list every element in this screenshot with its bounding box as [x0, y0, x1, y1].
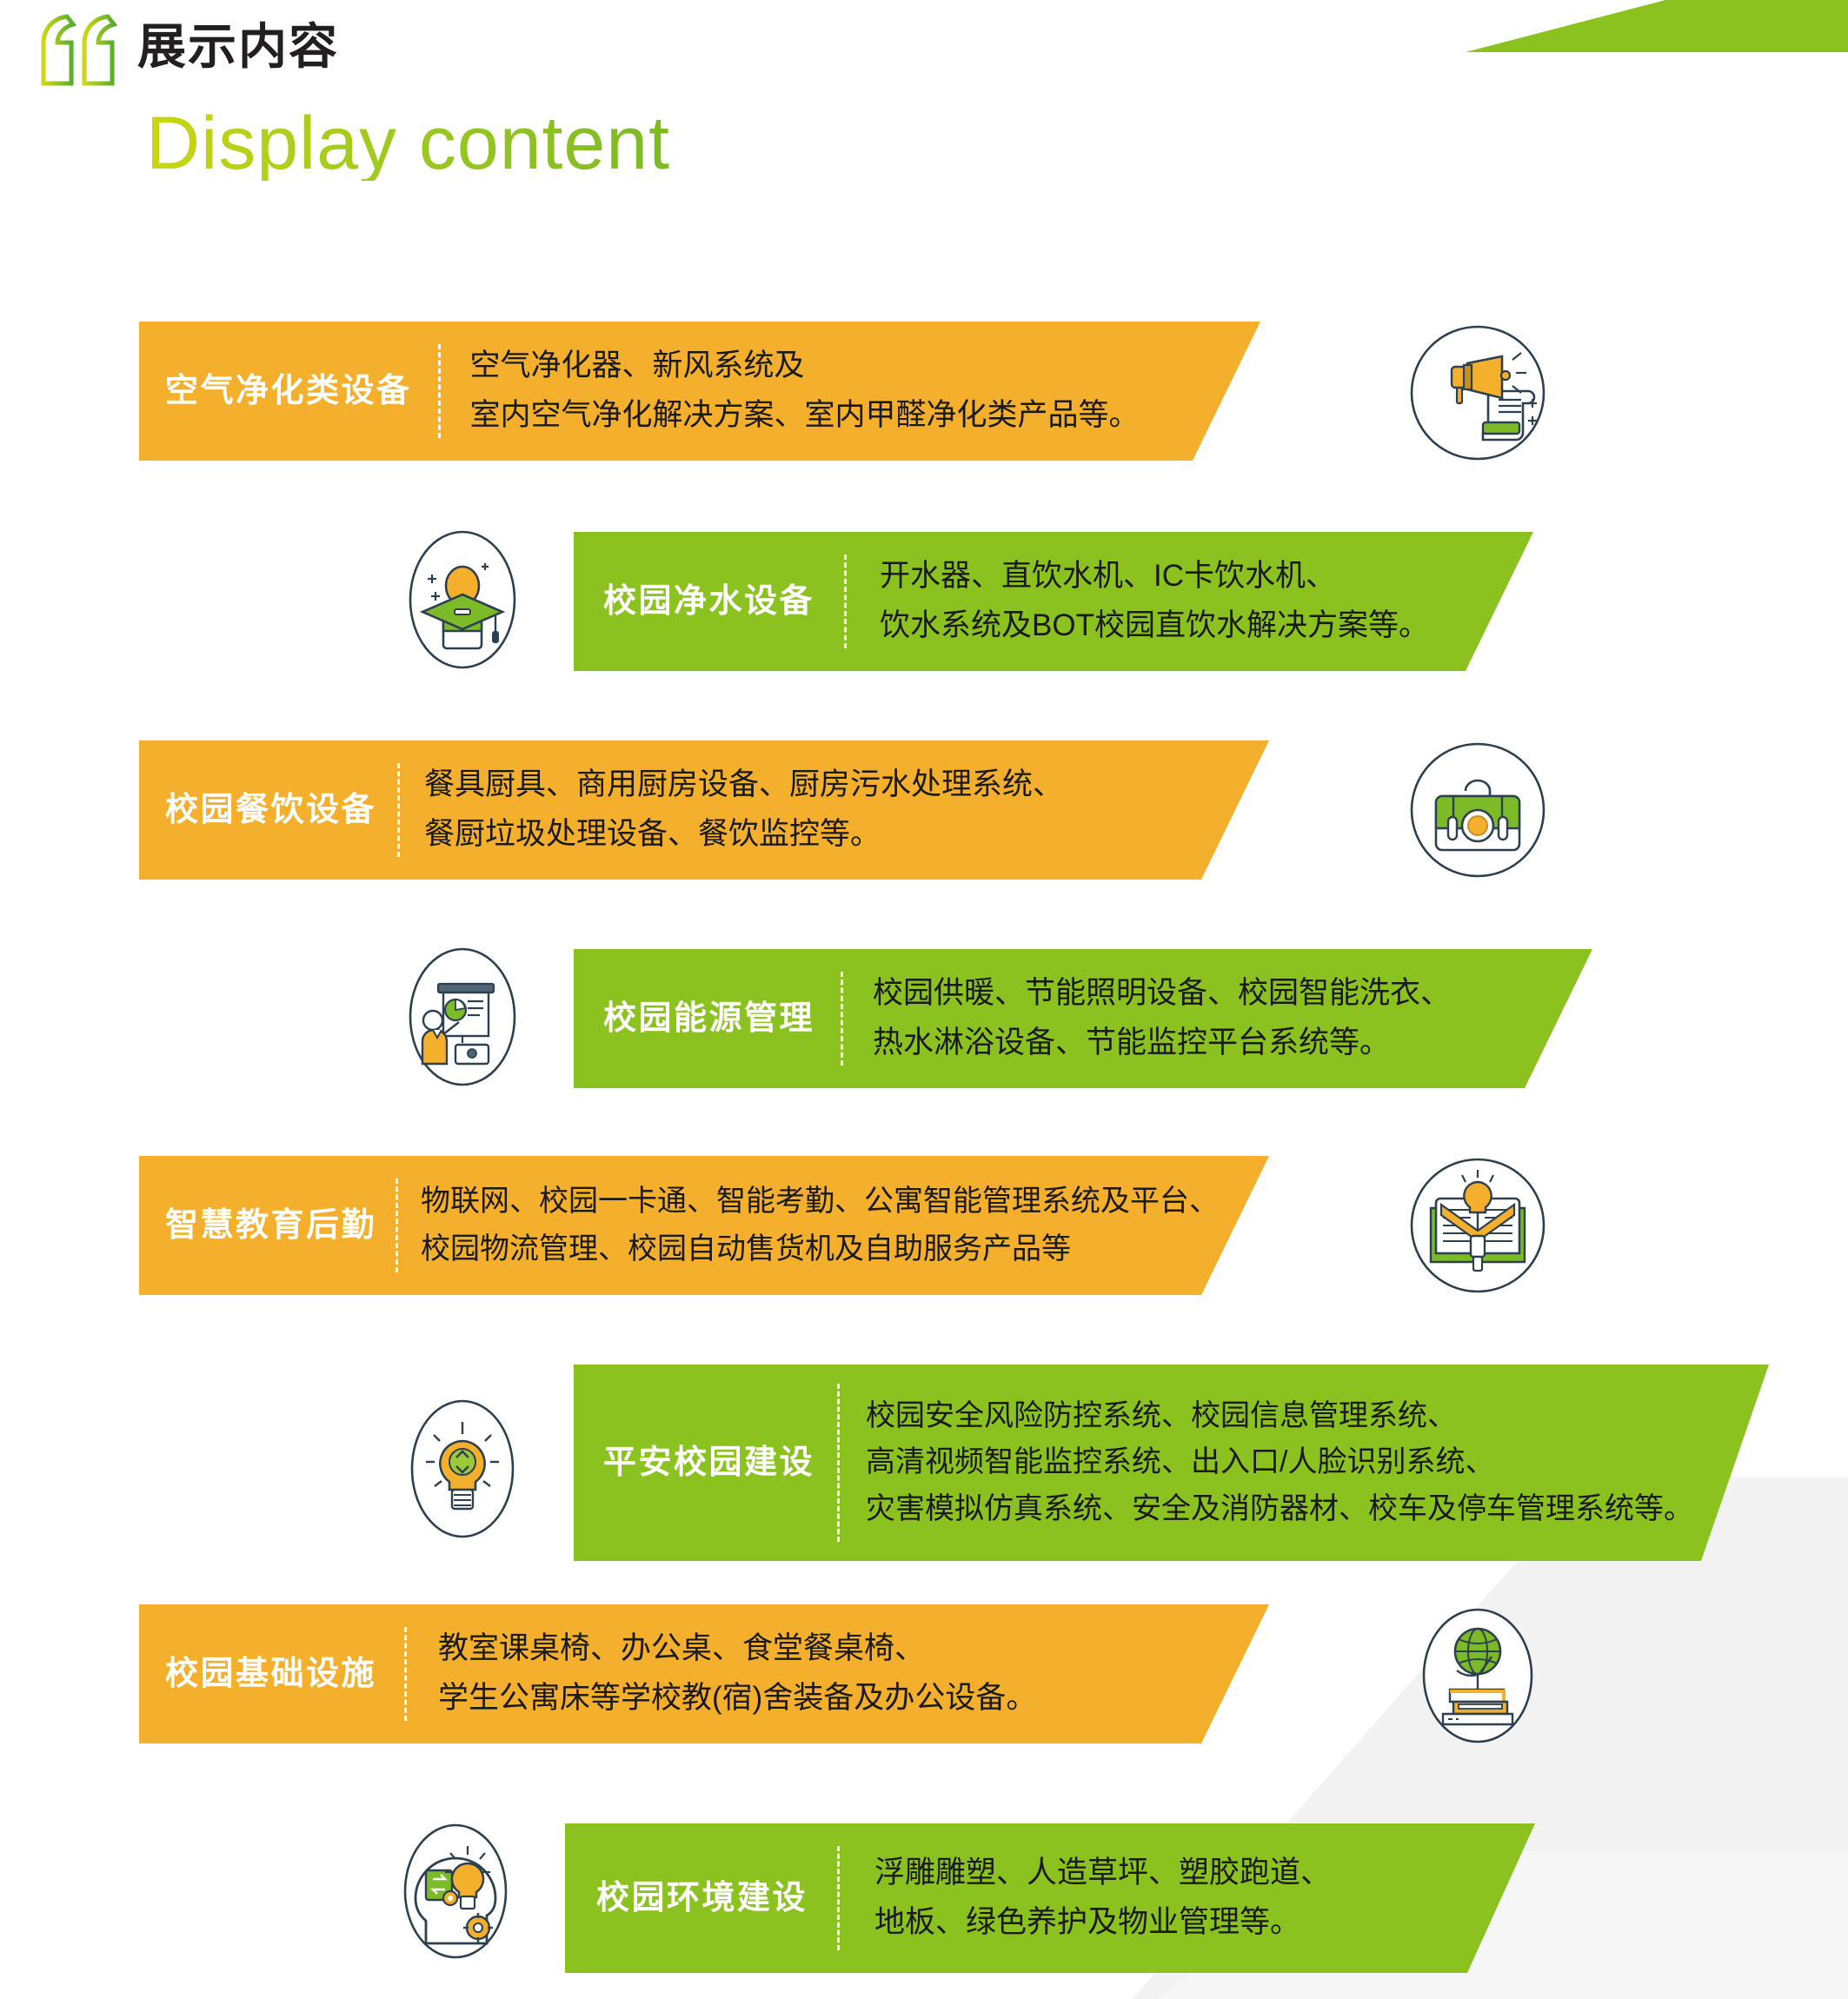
row-bar[interactable]: 校园净水设备 开水器、直饮水机、IC卡饮水机、 饮水系统及BOT校园直饮水解决方…: [574, 532, 1533, 671]
row-divider: [438, 344, 441, 438]
lightbulb-recycle-icon: [393, 1399, 532, 1538]
row-divider: [837, 1846, 840, 1950]
row-smart-logistics: 智慧教育后勤 物联网、校园一卡通、智能考勤、公寓智能管理系统及平台、 校园物流管…: [139, 1156, 1269, 1295]
row-desc-line: 校园供暖、节能照明设备、校园智能洗衣、: [873, 969, 1451, 1019]
row-environment-construction: 校园环境建设 浮雕雕塑、人造草坪、塑胶跑道、 地板、绿色养护及物业管理等。: [565, 1823, 1535, 1973]
megaphone-scroll-icon: [1408, 323, 1547, 462]
row-category-label: 平安校园建设: [603, 1446, 814, 1479]
row-divider: [841, 972, 843, 1066]
row-desc-line: 空气净化器、新风系统及: [470, 342, 1140, 391]
row-bar[interactable]: 校园餐饮设备 餐具厨具、商用厨房设备、厨房污水处理系统、 餐厨垃圾处理设备、餐饮…: [139, 740, 1269, 880]
page-title-en: Display content: [146, 106, 670, 181]
row-desc-line: 餐具厨具、商用厨房设备、厨房污水处理系统、: [424, 760, 1063, 810]
row-desc-line: 校园安全风险防控系统、校园信息管理系统、: [866, 1393, 1693, 1439]
row-energy-management: 校园能源管理 校园供暖、节能照明设备、校园智能洗衣、 热水淋浴设备、节能监控平台…: [574, 949, 1592, 1088]
row-bar[interactable]: 平安校园建设 校园安全风险防控系统、校园信息管理系统、 高清视频智能监控系统、出…: [574, 1365, 1769, 1561]
decorative-green-corner: [1466, 0, 1848, 52]
row-category-label: 校园净水设备: [603, 585, 814, 618]
row-basic-facilities: 校园基础设施 教室课桌椅、办公桌、食堂餐桌椅、 学生公寓床等学校教(宿)舍装备及…: [139, 1604, 1269, 1743]
row-safe-campus: 平安校园建设 校园安全风险防控系统、校园信息管理系统、 高清视频智能监控系统、出…: [574, 1365, 1769, 1561]
head-lightbulb-gear-icon: [386, 1822, 525, 1961]
row-bar[interactable]: 智慧教育后勤 物联网、校园一卡通、智能考勤、公寓智能管理系统及平台、 校园物流管…: [139, 1156, 1269, 1295]
row-desc-line: 热水淋浴设备、节能监控平台系统等。: [873, 1019, 1451, 1068]
row-category-label: 智慧教育后勤: [165, 1209, 376, 1242]
row-desc-line: 物联网、校园一卡通、智能考勤、公寓智能管理系统及平台、: [421, 1178, 1219, 1225]
row-divider: [844, 555, 847, 648]
row-category-label: 校园能源管理: [603, 1002, 814, 1035]
row-divider: [396, 1179, 398, 1272]
row-divider: [397, 763, 400, 857]
row-bar[interactable]: 校园能源管理 校园供暖、节能照明设备、校园智能洗衣、 热水淋浴设备、节能监控平台…: [574, 949, 1592, 1088]
row-desc-line: 校园物流管理、校园自动售货机及自助服务产品等: [421, 1225, 1219, 1273]
row-bar[interactable]: 校园基础设施 教室课桌椅、办公桌、食堂餐桌椅、 学生公寓床等学校教(宿)舍装备及…: [139, 1604, 1269, 1743]
graduation-cap-icon: [393, 530, 532, 669]
row-desc-line: 高清视频智能监控系统、出入口/人脸识别系统、: [866, 1439, 1693, 1485]
row-catering-equipment: 校园餐饮设备 餐具厨具、商用厨房设备、厨房污水处理系统、 餐厨垃圾处理设备、餐饮…: [139, 740, 1269, 880]
row-desc-line: 灾害模拟仿真系统、安全及消防器材、校车及停车管理系统等。: [866, 1486, 1693, 1532]
book-lightbulb-icon: [1408, 1156, 1547, 1295]
row-bar[interactable]: 空气净化类设备 空气净化器、新风系统及 室内空气净化解决方案、室内甲醛净化类产品…: [139, 322, 1260, 461]
row-category-label: 校园环境建设: [596, 1882, 808, 1915]
row-desc-line: 浮雕雕塑、人造草坪、塑胶跑道、: [874, 1849, 1331, 1898]
row-air-purification: 空气净化类设备 空气净化器、新风系统及 室内空气净化解决方案、室内甲醛净化类产品…: [139, 322, 1260, 461]
row-category-label: 校园餐饮设备: [165, 794, 376, 827]
quote-mark-icon: [38, 14, 122, 87]
briefcase-icon: [1408, 740, 1547, 880]
row-divider: [404, 1627, 407, 1721]
row-desc-line: 室内空气净化解决方案、室内甲醛净化类产品等。: [470, 391, 1140, 441]
row-category-label: 校园基础设施: [165, 1657, 376, 1690]
display-content-infographic: 展示内容 Display content 空气净化类设备 空气净化器、新风系统及…: [0, 0, 1848, 1999]
row-desc-line: 开水器、直饮水机、IC卡饮水机、: [880, 552, 1429, 601]
row-water-purification: 校园净水设备 开水器、直饮水机、IC卡饮水机、 饮水系统及BOT校园直饮水解决方…: [574, 532, 1533, 671]
row-desc-line: 饮水系统及BOT校园直饮水解决方案等。: [880, 601, 1429, 651]
row-desc-line: 餐厨垃圾处理设备、餐饮监控等。: [424, 810, 1063, 860]
row-desc-line: 教室课桌椅、办公桌、食堂餐桌椅、: [438, 1624, 1036, 1674]
globe-books-icon: [1408, 1606, 1547, 1745]
row-divider: [837, 1384, 840, 1542]
row-category-label: 空气净化类设备: [165, 375, 412, 408]
page-title-cn: 展示内容: [137, 23, 339, 71]
row-desc-line: 学生公寓床等学校教(宿)舍装备及办公设备。: [438, 1674, 1036, 1723]
row-desc-line: 地板、绿色养护及物业管理等。: [874, 1898, 1331, 1948]
presentation-person-icon: [393, 947, 532, 1086]
row-bar[interactable]: 校园环境建设 浮雕雕塑、人造草坪、塑胶跑道、 地板、绿色养护及物业管理等。: [565, 1823, 1535, 1973]
